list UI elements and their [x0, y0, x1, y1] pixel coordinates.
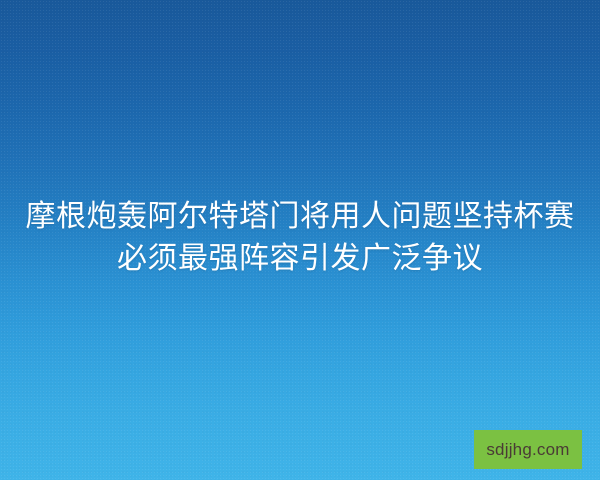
watermark-label: sdjjhg.com — [486, 441, 569, 458]
headline-text: 摩根炮轰阿尔特塔门将用人问题坚持杯赛 必须最强阵容引发广泛争议 — [0, 196, 600, 280]
headline-line-2: 必须最强阵容引发广泛争议 — [20, 238, 580, 280]
watermark-badge: sdjjhg.com — [474, 430, 582, 469]
headline-line-1: 摩根炮轰阿尔特塔门将用人问题坚持杯赛 — [20, 196, 580, 238]
news-banner: 摩根炮轰阿尔特塔门将用人问题坚持杯赛 必须最强阵容引发广泛争议 sdjjhg.c… — [0, 0, 600, 480]
